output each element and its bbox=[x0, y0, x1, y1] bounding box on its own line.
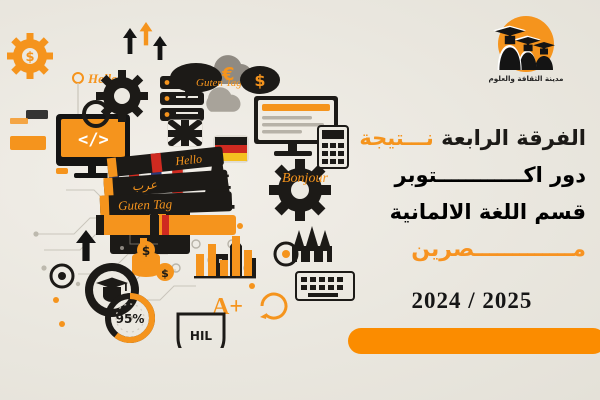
result-poster: مدينة الثقافة والعلوم bbox=[0, 0, 600, 400]
graduates-icon bbox=[488, 12, 564, 74]
headline-line-1-accent: نـــتيجة bbox=[359, 126, 433, 150]
institution-logo: مدينة الثقافة والعلوم bbox=[462, 12, 590, 96]
svg-text:$: $ bbox=[254, 71, 265, 90]
headline-block: الفرقة الرابعة نـــتيجة دور اكــــــــــ… bbox=[356, 120, 586, 268]
euro-bubble: € bbox=[221, 64, 235, 85]
headline-line-1: الفرقة الرابعة نـــتيجة bbox=[356, 120, 586, 157]
calculator-icon bbox=[318, 126, 348, 168]
svg-text:€: € bbox=[221, 64, 235, 85]
language-learning-collage: Hello </> bbox=[0, 18, 360, 348]
svg-text:Guten Tag: Guten Tag bbox=[118, 196, 173, 213]
united-kingdom-flag bbox=[168, 120, 202, 146]
headline-line-2: دور اكــــــــــــتوبر bbox=[356, 157, 586, 194]
refresh-icon bbox=[260, 294, 286, 319]
bonjour-label: Bonjour bbox=[282, 171, 328, 186]
headline-line-4: مـــــــــــــصرين bbox=[356, 231, 586, 268]
headline-line-3: قسم اللغة الالمانية bbox=[356, 194, 586, 231]
svg-text:Hello: Hello bbox=[174, 152, 203, 169]
donut-value-label: 95% bbox=[116, 312, 145, 326]
dollar-bubble: $ bbox=[240, 66, 280, 94]
shield-label: HIL bbox=[190, 329, 213, 343]
orange-footer-bar[interactable] bbox=[348, 328, 600, 354]
grade-label: A+ bbox=[212, 294, 243, 320]
headline-line-1-dark: الفرقة الرابعة bbox=[441, 126, 586, 150]
svg-text:$: $ bbox=[25, 50, 34, 65]
svg-text:</>: </> bbox=[78, 130, 109, 150]
svg-text:عرب: عرب bbox=[131, 178, 157, 194]
svg-text:$: $ bbox=[161, 267, 169, 280]
gear-icon: $ bbox=[7, 33, 53, 79]
svg-text:$: $ bbox=[142, 244, 150, 258]
svg-text:Guten Tag: Guten Tag bbox=[196, 77, 242, 89]
keyboard-icon bbox=[296, 272, 354, 300]
logo-caption: مدينة الثقافة والعلوم bbox=[462, 74, 590, 83]
academic-year-label: 2024 / 2025 bbox=[372, 288, 572, 314]
